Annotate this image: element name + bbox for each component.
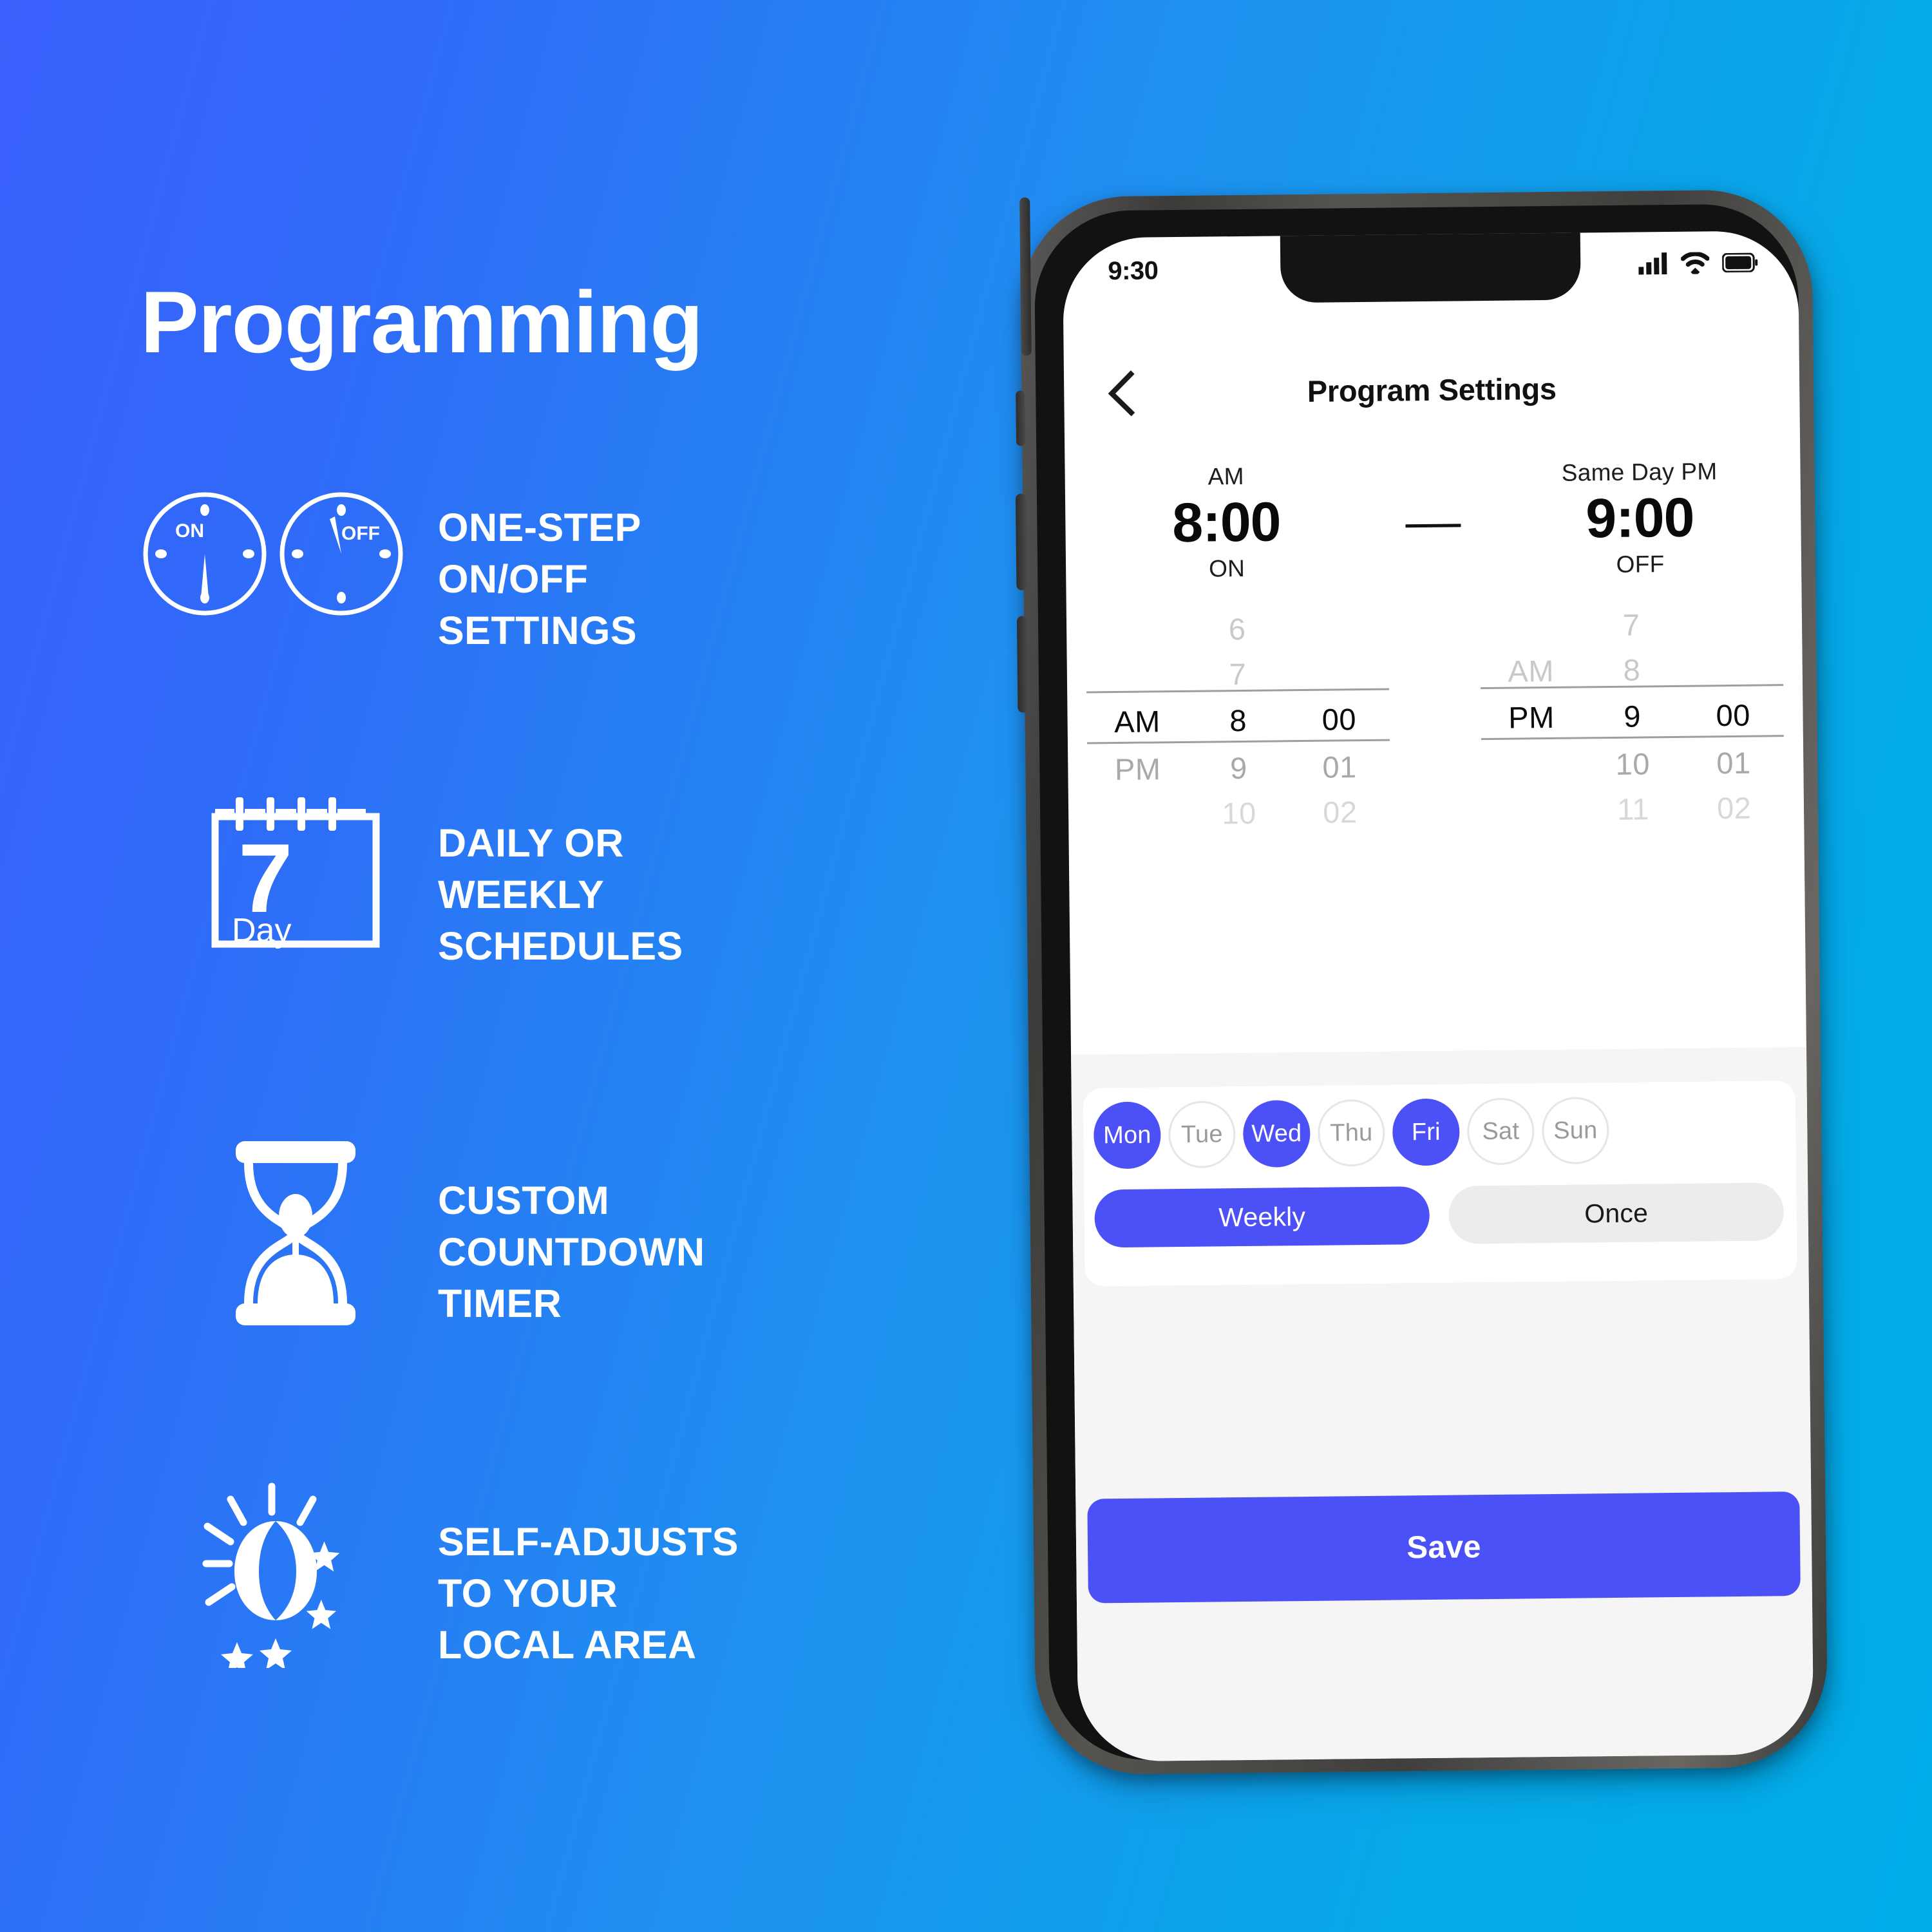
feature-label: CUSTOM COUNTDOWN TIMER [438, 1175, 705, 1330]
left-marketing-panel: Programming ON OFF ONE-STEP O [0, 0, 1005, 1932]
summary-off-meridiem: Same Day PM [1504, 457, 1774, 487]
picker-item[interactable]: 11 [1582, 791, 1683, 828]
on-off-clocks-icon: ON OFF [129, 489, 425, 618]
mode-button-once[interactable]: Once [1448, 1182, 1784, 1244]
feature-daily-weekly-schedules: 7 Day DAILY OR WEEKLY SCHEDULES [129, 792, 683, 972]
picker-item[interactable]: PM [1481, 699, 1582, 735]
feature-label: SELF-ADJUSTS TO YOUR LOCAL AREA [438, 1517, 739, 1671]
summary-off-time[interactable]: Same Day PM 9:00 OFF [1504, 457, 1776, 580]
day-pill-sat[interactable]: Sat [1467, 1097, 1535, 1165]
feature-one-step-onoff: ON OFF ONE-STEP ON/OFF SETTINGS [129, 489, 641, 657]
page-title: Programming [140, 278, 703, 366]
status-bar-icons [1638, 252, 1758, 278]
screen-title: Program Settings [1064, 368, 1800, 412]
day-pill-sun[interactable]: Sun [1542, 1097, 1609, 1164]
phone-mockup: 9:30 [1019, 189, 1835, 1788]
summary-on-time[interactable]: AM 8:00 ON [1090, 462, 1362, 584]
feature-self-adjusts-local-area: SELF-ADJUSTS TO YOUR LOCAL AREA [129, 1481, 739, 1671]
status-bar: 9:30 [1063, 231, 1799, 310]
picker-item[interactable]: 01 [1683, 744, 1784, 781]
picker-item[interactable]: PM [1087, 751, 1188, 788]
day-selector-card: MonTueWedThuFriSatSun WeeklyOnce [1083, 1081, 1797, 1287]
picker-item[interactable]: AM [1086, 703, 1188, 740]
summary-off-state: OFF [1505, 550, 1776, 580]
off-minute-wheel[interactable]: 00 01 02 [1681, 611, 1785, 805]
picker-item[interactable]: 6 [1187, 611, 1288, 647]
day-pill-wed[interactable]: Wed [1243, 1100, 1311, 1168]
picker-item[interactable]: 10 [1582, 746, 1683, 782]
day-pill-tue[interactable]: Tue [1168, 1101, 1236, 1168]
summary-on-meridiem: AM [1090, 462, 1361, 491]
off-hour-wheel[interactable]: 7 8 9 10 11 [1581, 612, 1684, 806]
picker-item[interactable]: 00 [1289, 701, 1390, 738]
summary-off-value: 9:00 [1504, 484, 1776, 553]
picker-item[interactable]: 02 [1683, 790, 1785, 826]
volume-down-button[interactable] [1017, 616, 1028, 712]
silent-switch-button[interactable] [1016, 390, 1025, 446]
svg-text:ON: ON [175, 520, 204, 542]
seven-day-calendar-icon: 7 Day [129, 792, 425, 953]
day-pill-mon[interactable]: Mon [1094, 1101, 1161, 1169]
day-pill-thu[interactable]: Thu [1318, 1099, 1385, 1167]
save-button[interactable]: Save [1087, 1492, 1801, 1604]
wifi-icon [1681, 252, 1709, 277]
battery-icon [1722, 253, 1758, 276]
picker-item[interactable]: 8 [1581, 652, 1682, 688]
volume-up-button[interactable] [1016, 493, 1027, 590]
cellular-signal-icon [1638, 252, 1668, 278]
on-hour-wheel[interactable]: 6 7 8 9 10 [1187, 616, 1290, 810]
on-time-picker[interactable]: AM PM 6 7 8 9 10 00 [1086, 615, 1390, 811]
phone-body: 9:30 [1019, 189, 1828, 1776]
nav-bar: Program Settings [1064, 348, 1800, 433]
feature-label: DAILY OR WEEKLY SCHEDULES [438, 818, 683, 972]
phone-bezel: 9:30 [1034, 204, 1814, 1761]
svg-text:OFF: OFF [341, 523, 380, 544]
mode-button-weekly[interactable]: Weekly [1094, 1186, 1430, 1247]
power-button[interactable] [1019, 197, 1032, 355]
hourglass-icon [129, 1140, 425, 1327]
summary-on-state: ON [1092, 554, 1362, 583]
on-minute-wheel[interactable]: 00 01 02 [1287, 615, 1390, 810]
schedule-section: MonTueWedThuFriSatSun WeeklyOnce Save [1071, 1047, 1814, 1762]
summary-on-value: 8:00 [1091, 489, 1362, 557]
summary-separator [1405, 524, 1461, 527]
day-pill-fri[interactable]: Fri [1392, 1098, 1460, 1166]
picker-item[interactable]: 8 [1188, 702, 1289, 739]
on-meridiem-wheel[interactable]: AM PM [1086, 617, 1189, 811]
time-summary: AM 8:00 ON Same Day PM 9:00 OFF [1065, 457, 1801, 613]
off-meridiem-wheel[interactable]: AM PM [1480, 612, 1583, 807]
feature-custom-countdown-timer: CUSTOM COUNTDOWN TIMER [129, 1140, 705, 1330]
phone-screen: 9:30 [1063, 231, 1814, 1762]
picker-item[interactable]: 02 [1289, 794, 1390, 831]
picker-item[interactable]: 7 [1580, 607, 1681, 643]
day-selector-row: MonTueWedThuFriSatSun [1094, 1097, 1609, 1169]
sun-moon-stars-icon [129, 1481, 425, 1668]
picker-item[interactable]: 00 [1683, 697, 1784, 734]
status-bar-time: 9:30 [1108, 256, 1159, 286]
svg-text:Day: Day [232, 912, 291, 949]
time-pickers: AM PM 6 7 8 9 10 00 [1066, 611, 1804, 824]
picker-item[interactable]: AM [1481, 652, 1582, 689]
feature-label: ONE-STEP ON/OFF SETTINGS [438, 502, 641, 657]
off-time-picker[interactable]: AM PM 7 8 9 10 11 00 [1480, 611, 1785, 807]
picker-item[interactable]: 7 [1187, 656, 1288, 692]
repeat-mode-row: WeeklyOnce [1094, 1182, 1784, 1247]
picker-item[interactable]: 9 [1582, 698, 1683, 735]
picker-item[interactable]: 9 [1188, 750, 1289, 786]
picker-item[interactable]: 10 [1189, 795, 1290, 831]
picker-item[interactable]: 01 [1289, 749, 1390, 786]
